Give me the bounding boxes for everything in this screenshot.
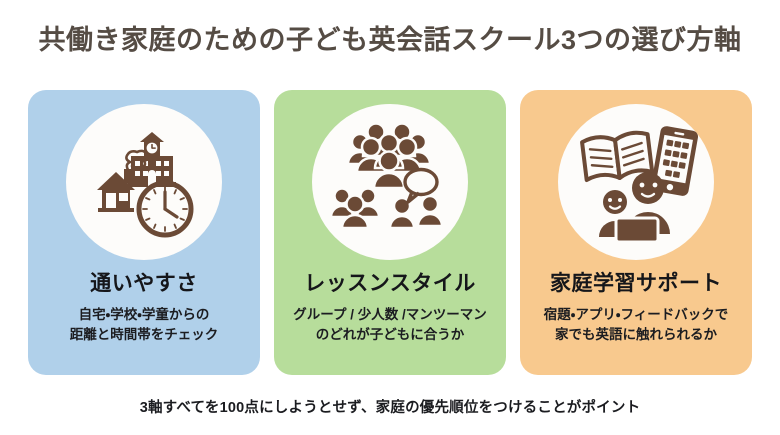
card-desc-home-study: 宿題・アプリ・フィードバックで 家でも英語に触れられるか [544, 305, 728, 344]
card-desc-line2: 家でも英語に触れられるか [544, 325, 728, 345]
card-desc-line1: 宿題・アプリ・フィードバックで [544, 307, 728, 322]
footer-note: 3軸すべてを100点にしようとせず、家庭の優先順位をつけることがポイント [0, 396, 780, 417]
card-desc-commute: 自宅・学校・学童からの 距離と時間帯をチェック [70, 305, 219, 344]
axis-card-row: 通いやすさ 自宅・学校・学童からの 距離と時間帯をチェック [28, 90, 752, 375]
card-title-home-study: 家庭学習サポート [550, 272, 722, 296]
icon-circle-commute [66, 104, 222, 260]
infographic-page: 共働き家庭のための子ども英会話スクール3つの選び方軸 [0, 0, 780, 435]
page-title: 共働き家庭のための子ども英会話スクール3つの選び方軸 [0, 24, 780, 56]
house-with-chimney-icon [97, 169, 135, 212]
large-group-icon [348, 124, 430, 189]
icon-circle-home-study [558, 104, 714, 260]
card-desc-lesson-style: グループ / 少人数 /マンツーマン のどれが子どもに合うか [293, 305, 486, 344]
card-desc-line2: のどれが子どもに合うか [293, 325, 486, 345]
home-study-icon-group [570, 116, 702, 248]
one-on-one-conversation-icon [390, 196, 442, 228]
small-group-icon [331, 189, 379, 229]
commute-icon-group [78, 116, 210, 248]
clock-icon [139, 183, 191, 235]
axis-card-home-study[interactable]: 家庭学習サポート 宿題・アプリ・フィードバックで 家でも英語に触れられるか [520, 90, 752, 375]
axis-card-lesson-style[interactable]: レッスンスタイル グループ / 少人数 /マンツーマン のどれが子どもに合うか [274, 90, 506, 375]
card-desc-line1: グループ / 少人数 /マンツーマン [293, 307, 486, 322]
tablet-icon [616, 218, 658, 242]
card-desc-line2: 距離と時間帯をチェック [70, 325, 219, 345]
axis-card-commute[interactable]: 通いやすさ 自宅・学校・学童からの 距離と時間帯をチェック [28, 90, 260, 375]
lesson-style-icon-group [324, 116, 456, 248]
card-desc-line1: 自宅・学校・学童からの [79, 307, 210, 322]
card-title-commute: 通いやすさ [90, 272, 198, 296]
card-title-lesson-style: レッスンスタイル [304, 272, 476, 296]
parent-child-tablet-icon [599, 172, 670, 242]
icon-circle-lesson-style [312, 104, 468, 260]
